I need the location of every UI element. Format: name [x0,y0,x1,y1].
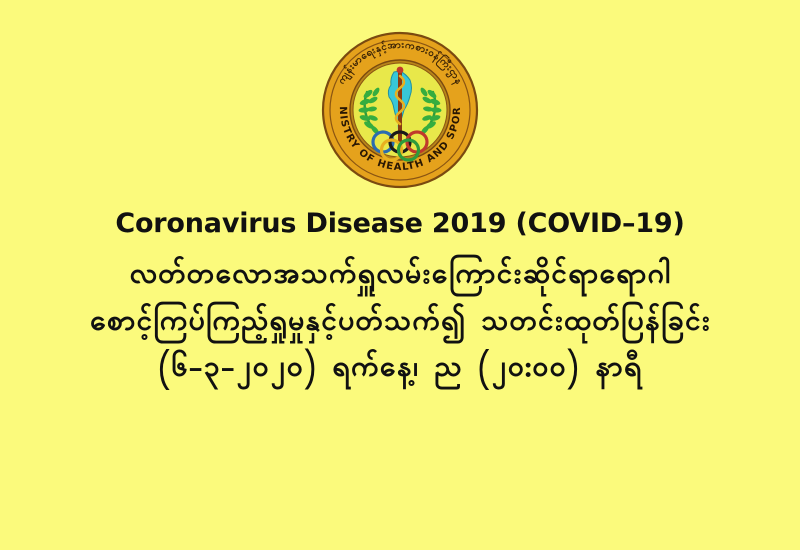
subtitle-line-2: စောင့်ကြပ်ကြည့်ရှုမှုနှင့်ပတ်သက်၍ သတင်းထ… [0,300,800,347]
ministry-emblem: ကျန်းမာရေးနှင့်အားကစားဝန်ကြီးဌာန MINISTR… [320,30,480,190]
subtitle-line-1: လတ်တလောအသက်ရှူလမ်းကြောင်းဆိုင်ရာရောဂါ [0,253,800,300]
datetime-line: (၆-၃-၂၀၂၀) ရက်နေ့၊ ည (၂၀:၀၀) နာရီ [0,346,800,393]
page-title: Coronavirus Disease 2019 (COVID–19) [0,208,800,239]
ministry-seal-icon: ကျန်းမာရေးနှင့်အားကစားဝန်ကြီးဌာန MINISTR… [320,30,480,190]
announcement-text-block: Coronavirus Disease 2019 (COVID–19) လတ်တ… [0,208,800,393]
announcement-poster: ကျန်းမာရေးနှင့်အားကစားဝန်ကြီးဌာန MINISTR… [0,0,800,550]
